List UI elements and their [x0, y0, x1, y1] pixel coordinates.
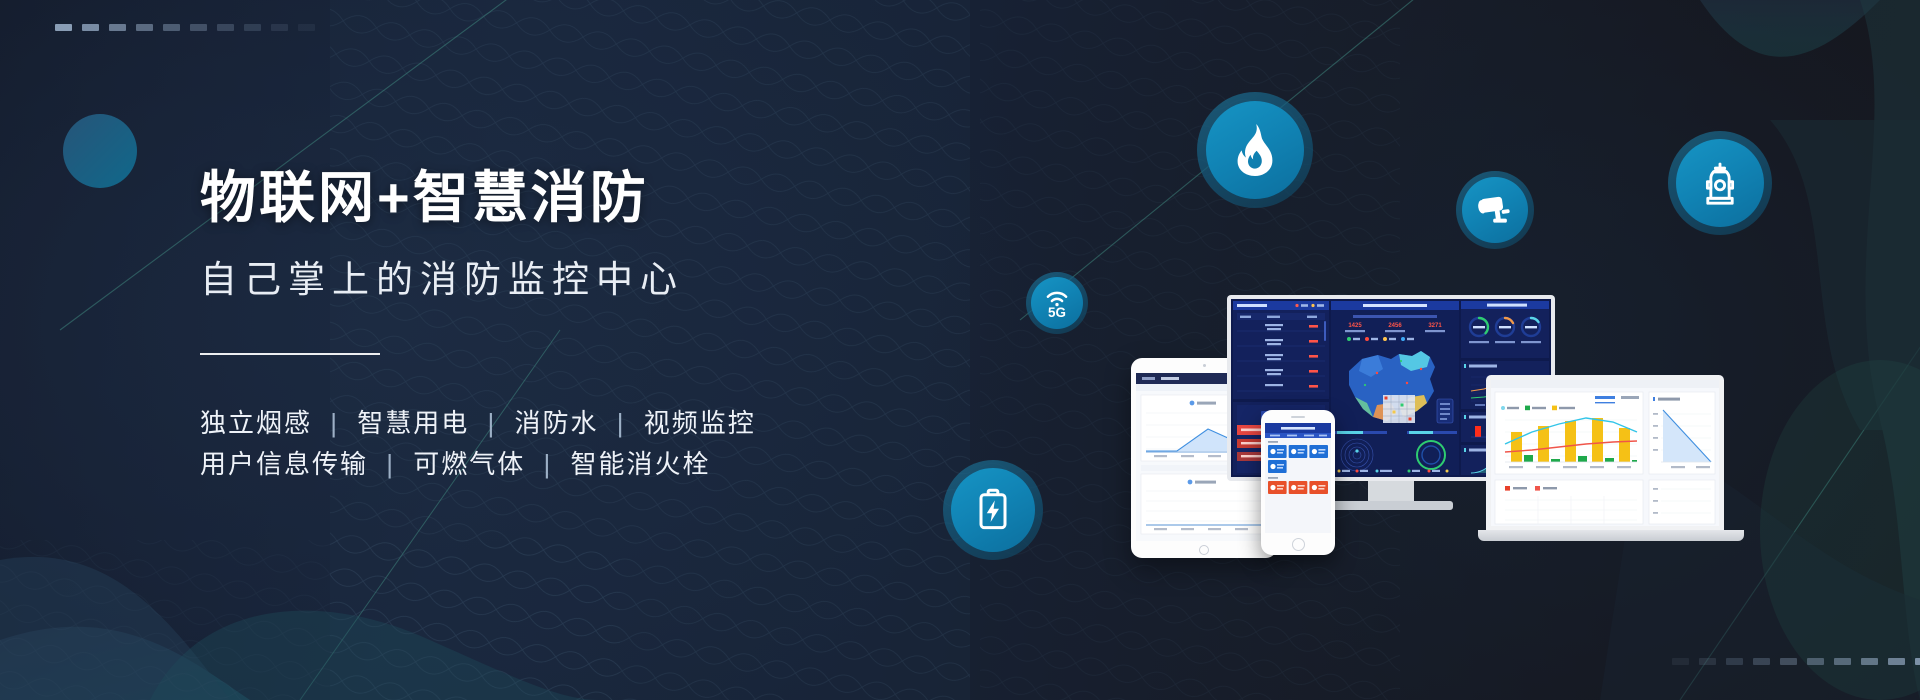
page-title: 物联网+智慧消防	[200, 168, 900, 227]
feature-separator: |	[321, 408, 348, 438]
laptop-dashboard	[1491, 380, 1719, 526]
feature-separator: |	[608, 408, 635, 438]
feature-item: 可燃气体	[413, 449, 525, 479]
feature-item: 智慧用电	[357, 408, 469, 438]
page-subtitle: 自己掌上的消防监控中心	[200, 249, 900, 303]
feature-line-2: 用户信息传输 | 可燃气体 | 智能消火栓	[200, 444, 900, 485]
dash-decoration-bottom-right	[1672, 658, 1920, 665]
svg-text:3271: 3271	[1428, 323, 1442, 329]
feature-line-1: 独立烟感 | 智慧用电 | 消防水 | 视频监控	[200, 403, 900, 444]
phone-dashboard	[1265, 423, 1331, 533]
svg-text:1425: 1425	[1348, 323, 1362, 329]
feature-list: 独立烟感 | 智慧用电 | 消防水 | 视频监控 用户信息传输 | 可燃气体 |…	[200, 403, 900, 485]
feature-item: 用户信息传输	[200, 449, 368, 479]
laptop-base	[1478, 530, 1744, 541]
tablet-home-button[interactable]	[1131, 541, 1277, 558]
feature-item: 智能消火栓	[571, 449, 711, 479]
feature-item: 独立烟感	[200, 408, 312, 438]
fire-hydrant-icon	[1668, 131, 1772, 235]
cctv-camera-icon	[1456, 171, 1534, 249]
hero-copy: 物联网+智慧消防 自己掌上的消防监控中心 独立烟感 | 智慧用电 | 消防水 |…	[200, 168, 900, 486]
phone-home-button[interactable]	[1261, 533, 1335, 555]
5g-signal-icon: 5G	[1026, 272, 1088, 334]
dash-decoration-top-left	[55, 24, 315, 31]
divider-rule	[200, 353, 380, 355]
battery-bolt-icon	[943, 460, 1043, 560]
feature-separator: |	[535, 449, 562, 479]
flame-icon	[1197, 92, 1313, 208]
laptop-device	[1478, 375, 1744, 565]
monitor-stand	[1329, 501, 1453, 510]
feature-separator: |	[377, 449, 404, 479]
svg-text:5G: 5G	[1048, 305, 1066, 318]
phone-speaker	[1261, 410, 1335, 423]
feature-item: 视频监控	[644, 408, 756, 438]
banner-stage: 物联网+智慧消防 自己掌上的消防监控中心 独立烟感 | 智慧用电 | 消防水 |…	[0, 0, 1920, 700]
laptop-screen	[1491, 380, 1719, 526]
feature-item: 消防水	[515, 408, 599, 438]
smartphone-device	[1261, 410, 1335, 555]
svg-text:2456: 2456	[1388, 323, 1402, 329]
laptop-lid	[1486, 375, 1724, 530]
monitor-neck	[1368, 481, 1414, 501]
feature-separator: |	[479, 408, 506, 438]
phone-screen	[1265, 423, 1331, 533]
